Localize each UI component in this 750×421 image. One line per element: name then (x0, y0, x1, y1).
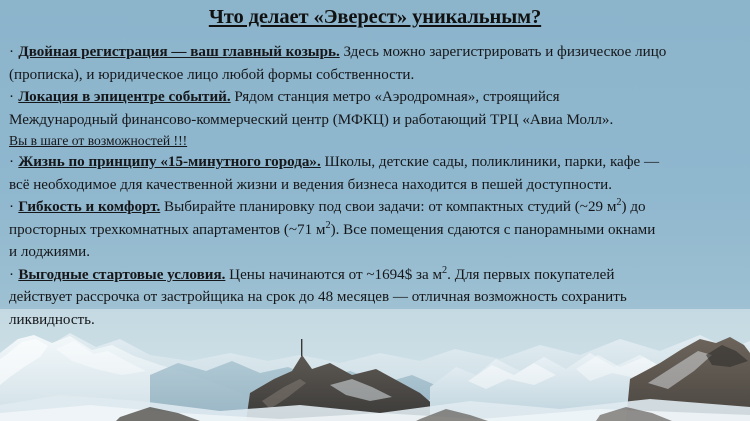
bullet-marker: · (9, 44, 15, 60)
bullet-text: ) до (622, 199, 646, 215)
slide-title: Что делает «Эверест» уникальным? (0, 6, 750, 29)
bullet-line: · Локация в эпицентре событий. Рядом ста… (9, 86, 744, 109)
presentation-slide: Что делает «Эверест» уникальным? · Двойн… (0, 0, 750, 421)
bullet-text: Школы, детские сады, поликлиники, парки,… (321, 154, 659, 170)
bullet-line: · Выгодные стартовые условия. Цены начин… (9, 264, 744, 287)
bullet-line: и лоджиями. (9, 241, 744, 264)
bullet-line: ликвидность. (9, 309, 744, 332)
bullet-text: Рядом станция метро «Аэродромная», строя… (231, 89, 560, 105)
bullet-text: Здесь можно зарегистрировать и физическо… (340, 44, 667, 60)
bullet-line: (прописка), и юридическое лицо любой фор… (9, 64, 744, 87)
bullet-line: всё необходимое для качественной жизни и… (9, 174, 744, 197)
bullet-text: Выбирайте планировку под свои задачи: от… (160, 199, 616, 215)
bullet-line: · Двойная регистрация — ваш главный козы… (9, 41, 744, 64)
bullet-item: · Гибкость и комфорт. Выбирайте планиров… (9, 196, 744, 264)
bullet-line: · Жизнь по принципу «15-минутного города… (9, 151, 744, 174)
slide-title-text: Что делает «Эверест» уникальным? (209, 6, 541, 28)
bullet-text: Цены начинаются от ~1694$ за м (225, 267, 442, 283)
bullet-item: · Выгодные стартовые условия. Цены начин… (9, 264, 744, 332)
bullet-line: действует рассрочка от застройщика на ср… (9, 286, 744, 309)
bullet-note-line: Вы в шаге от возможностей !!! (9, 131, 744, 151)
bullet-heading: Гибкость и комфорт. (18, 199, 160, 215)
bullet-marker: · (9, 89, 15, 105)
bullet-heading: Выгодные стартовые условия. (18, 267, 225, 283)
bullet-text: Международный финансово-коммерческий цен… (9, 112, 613, 128)
bullet-marker: · (9, 199, 15, 215)
bullet-item: · Двойная регистрация — ваш главный козы… (9, 41, 744, 86)
bullet-item: · Локация в эпицентре событий. Рядом ста… (9, 86, 744, 151)
bullet-text: (прописка), и юридическое лицо любой фор… (9, 67, 414, 83)
bullet-text: действует рассрочка от застройщика на ср… (9, 289, 627, 305)
bullet-text: . Для первых покупателей (447, 267, 614, 283)
bullet-marker: · (9, 154, 15, 170)
bullet-text: ликвидность. (9, 312, 95, 328)
slide-body: · Двойная регистрация — ваш главный козы… (9, 41, 744, 331)
bullet-line: Международный финансово-коммерческий цен… (9, 109, 744, 132)
bullet-line: просторных трехкомнатных апартаментов (~… (9, 219, 744, 242)
bullet-text: всё необходимое для качественной жизни и… (9, 177, 612, 193)
bullet-item: · Жизнь по принципу «15-минутного города… (9, 151, 744, 196)
bullet-line: · Гибкость и комфорт. Выбирайте планиров… (9, 196, 744, 219)
bullet-text: просторных трехкомнатных апартаментов (~… (9, 222, 325, 238)
bullet-note: Вы в шаге от возможностей !!! (9, 133, 187, 148)
bullet-text: и лоджиями. (9, 244, 90, 260)
bullet-text: ). Все помещения сдаются с панорамными о… (331, 222, 656, 238)
bullet-heading: Локация в эпицентре событий. (18, 89, 230, 105)
bullet-heading: Жизнь по принципу «15-минутного города». (18, 154, 320, 170)
bullet-marker: · (9, 267, 15, 283)
bullet-heading: Двойная регистрация — ваш главный козырь… (18, 44, 339, 60)
